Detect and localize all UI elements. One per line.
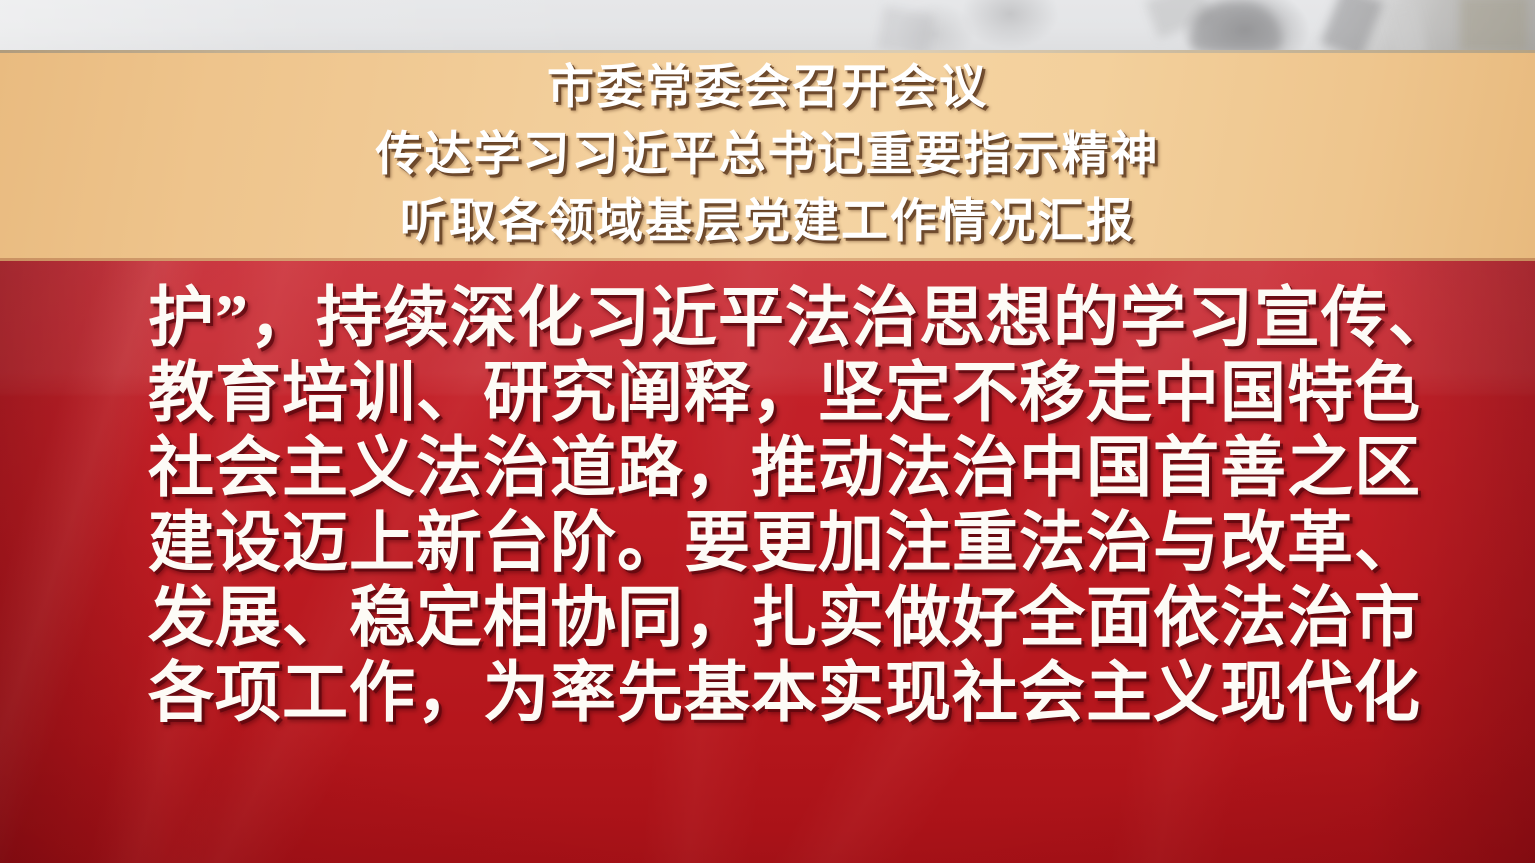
caption-line-6: 各项工作，为率先基本实现社会主义现代化 bbox=[148, 656, 1408, 731]
headline-line-3: 听取各领域基层党建工作情况汇报 bbox=[400, 187, 1135, 254]
caption-line-4: 建设迈上新台阶。要更加注重法治与改革、 bbox=[148, 506, 1408, 581]
caption-text-block: 护”，持续深化习近平法治思想的学习宣传、 教育培训、研究阐释，坚定不移走中国特色… bbox=[148, 281, 1408, 731]
caption-body: 护”，持续深化习近平法治思想的学习宣传、 教育培训、研究阐释，坚定不移走中国特色… bbox=[0, 261, 1535, 863]
headline-line-2: 传达学习习近平总书记重要指示精神 bbox=[376, 120, 1160, 187]
banner-top-divider bbox=[0, 50, 1535, 53]
caption-line-3: 社会主义法治道路，推动法治中国首善之区 bbox=[148, 431, 1408, 506]
video-frame-strip bbox=[0, 0, 1535, 50]
broadcast-caption-screen: 市委常委会召开会议 传达学习习近平总书记重要指示精神 听取各领域基层党建工作情况… bbox=[0, 0, 1535, 863]
caption-line-5: 发展、稳定相协同，扎实做好全面依法治市 bbox=[148, 581, 1408, 656]
headline-line-1: 市委常委会召开会议 bbox=[547, 53, 988, 120]
caption-line-2: 教育培训、研究阐释，坚定不移走中国特色 bbox=[148, 356, 1408, 431]
caption-line-1: 护”，持续深化习近平法治思想的学习宣传、 bbox=[148, 281, 1408, 356]
title-banner: 市委常委会召开会议 传达学习习近平总书记重要指示精神 听取各领域基层党建工作情况… bbox=[0, 50, 1535, 261]
video-strip-overlay bbox=[0, 0, 1535, 50]
